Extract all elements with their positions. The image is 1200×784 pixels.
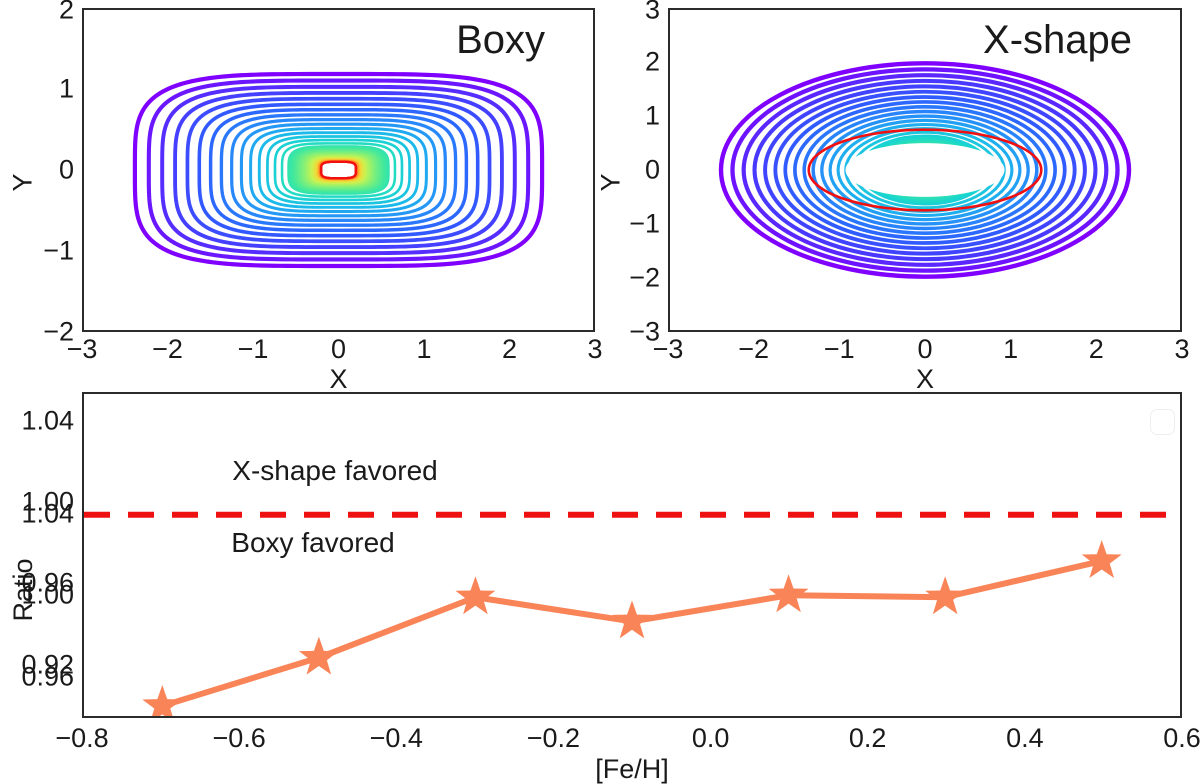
ratio-xtick-7: 0.6 [1163,725,1200,752]
boxy-yaxis-title: Y [10,174,37,192]
xshape-panel-tag: X-shape [983,20,1132,60]
ratio-ytick-104: 1.04 [21,408,74,435]
xshape-ytick-4: 1 [645,103,660,130]
legend-box[interactable] [1150,409,1175,435]
figure-root: Boxy −2 −1 0 1 2 −3 −2 −1 0 1 2 3 X Y X-… [0,0,1200,779]
xshape-yaxis-title: Y [598,174,625,192]
xshape-xtick-1: −2 [738,336,769,363]
xshape-ytick-5: 2 [645,49,660,76]
boxy-xtick-2: −1 [238,336,269,363]
ratio-xtick-4: 0.0 [692,725,730,752]
boxy-xtick-0: −3 [67,336,98,363]
ratio-xtick-6: 0.4 [1006,725,1044,752]
ratio-xtick-2: −0.4 [370,725,423,752]
xshape-ytick-1: −2 [629,265,660,292]
boxy-ytick-4: 2 [59,0,74,24]
xshape-ytick-3: 0 [645,157,660,184]
boxy-ytick-2: 0 [59,157,74,184]
ratio-xtick-5: 0.2 [849,725,887,752]
xshape-xtick-2: −1 [824,336,855,363]
boxy-xtick-3: 0 [331,336,346,363]
xshape-ytick-6: 3 [645,0,660,24]
boxy-xtick-5: 2 [502,336,517,363]
boxy-ytick-1: −1 [43,238,74,265]
ratio-xtick-3: −0.2 [527,725,580,752]
boxy-ytick-3: 1 [59,76,74,103]
panel-ratio: 1.04 1.00 0.96 1.04 1.04 1.00 0.96 0.92 … [0,380,1200,779]
boxy-panel-tag: Boxy [456,20,545,60]
panel-boxy: Boxy −2 −1 0 1 2 −3 −2 −1 0 1 2 3 X Y [0,0,600,380]
xshape-xtick-0: −3 [653,336,684,363]
xshape-xtick-4: 1 [1003,336,1018,363]
xshape-ytick-2: −1 [629,211,660,238]
annotation-boxy-favored: Boxy favored [231,529,394,557]
annotation-xshape-favored: X-shape favored [232,457,437,485]
boxy-xtick-1: −2 [152,336,183,363]
ratio-yaxis-title: Ratio [10,559,37,622]
boxy-xtick-4: 1 [416,336,431,363]
ratio-ytick-092: 0.92 [21,652,74,679]
xshape-xtick-3: 0 [917,336,932,363]
xshape-xtick-6: 3 [1174,336,1189,363]
ratio-xtick-1: −0.6 [212,725,265,752]
ratio-xtick-0: −0.8 [55,725,108,752]
panel-xshape: X-shape −3 −2 −1 0 1 2 3 −3 −2 −1 0 1 2 … [600,0,1200,380]
xshape-xtick-5: 2 [1089,336,1104,363]
ratio-ytick-100: 1.00 [21,489,74,516]
